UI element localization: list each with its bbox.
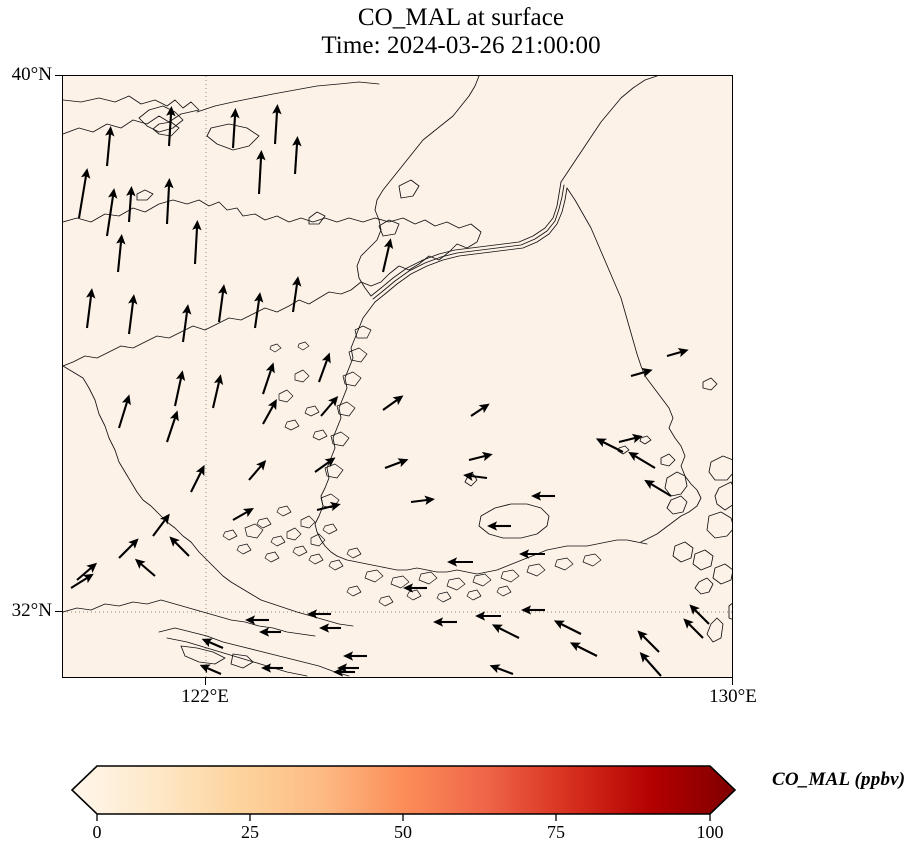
wind-arrow xyxy=(233,116,235,148)
island-south-14 xyxy=(347,586,361,596)
wind-arrow xyxy=(469,456,485,460)
island-south-5 xyxy=(473,574,491,586)
island-sw-14 xyxy=(347,548,361,558)
island-goto-3 xyxy=(713,564,733,584)
wind-arrow xyxy=(167,186,169,224)
coast-sk-west xyxy=(315,302,375,556)
wind-arrow xyxy=(263,406,273,424)
wind-arrow xyxy=(321,402,333,416)
island-south-2 xyxy=(391,576,409,588)
wind-arrow xyxy=(471,408,483,416)
wind-arrow xyxy=(209,642,223,648)
island-miaodao xyxy=(309,212,325,224)
wind-vectors xyxy=(71,112,709,676)
coast-east-china xyxy=(63,366,191,542)
wind-arrow xyxy=(129,194,131,222)
coast-north-shore xyxy=(197,82,379,112)
island-sw-7 xyxy=(277,506,291,516)
wind-arrow xyxy=(689,624,703,638)
island-sw-3 xyxy=(311,534,325,546)
island-amakusa xyxy=(707,618,723,642)
island-south-12 xyxy=(467,590,481,600)
wind-arrow xyxy=(175,542,189,556)
wind-arrow xyxy=(167,418,175,442)
wind-arrow xyxy=(191,472,201,492)
wind-arrow xyxy=(631,372,645,376)
wind-arrow xyxy=(319,360,327,382)
wind-arrow xyxy=(107,196,113,236)
wind-arrow xyxy=(141,564,155,576)
wind-arrow xyxy=(295,144,297,174)
colorbar-tick-50: 50 xyxy=(394,822,412,843)
coast-nk-west xyxy=(357,76,479,296)
colorbar-tick-0: 0 xyxy=(93,822,102,843)
wind-arrow xyxy=(77,568,91,580)
wind-arrow xyxy=(119,544,133,558)
island-ulleungdo xyxy=(703,378,717,390)
colorbar-tick-25: 25 xyxy=(241,822,259,843)
island-south-3 xyxy=(419,572,437,584)
island-sw-13 xyxy=(329,560,343,570)
island-yellow-sea-1 xyxy=(295,370,309,382)
island-yellow-sea-3 xyxy=(305,406,319,416)
island-south-7 xyxy=(527,564,545,576)
wind-arrow xyxy=(255,300,259,328)
island-south-9 xyxy=(583,554,601,566)
ytick-label-40n: 40°N xyxy=(12,64,52,86)
wind-arrow xyxy=(219,292,223,322)
coast-sk-south xyxy=(337,540,647,574)
colorbar-ticks xyxy=(97,814,710,821)
colorbar-tick-100: 100 xyxy=(697,822,724,843)
xtick-label-122e: 122°E xyxy=(181,686,229,708)
island-tsushima-north xyxy=(665,472,687,496)
colorbar-gradient-bar[interactable] xyxy=(72,766,735,814)
island-sw-10 xyxy=(265,552,279,562)
island-yellow-sea-6 xyxy=(270,344,281,352)
wind-arrow xyxy=(207,668,221,674)
island-small-se-2 xyxy=(640,436,651,444)
wind-arrow xyxy=(497,668,513,674)
coast-yangtze-south xyxy=(159,628,349,676)
xtick-130e xyxy=(732,678,733,685)
island-yellow-sea-7 xyxy=(298,342,309,350)
island-sw-5 xyxy=(293,546,307,556)
wind-arrow xyxy=(275,112,277,144)
island-iki xyxy=(709,456,733,480)
wind-arrow xyxy=(259,158,261,194)
wind-arrow xyxy=(79,176,86,218)
wind-arrow xyxy=(385,462,401,468)
island-south-6 xyxy=(501,570,519,582)
wind-arrow xyxy=(175,378,181,406)
island-small-nw xyxy=(137,190,153,200)
island-goto-1 xyxy=(673,542,693,562)
wind-arrow xyxy=(233,512,247,520)
wind-arrow xyxy=(195,228,197,264)
wind-arrow xyxy=(118,242,121,272)
wind-arrow xyxy=(263,370,271,394)
wind-arrow xyxy=(169,114,171,146)
wind-arrow xyxy=(183,312,187,342)
map-graphics xyxy=(63,76,733,678)
wind-arrow xyxy=(651,484,671,496)
coast-shandong-north xyxy=(63,200,459,228)
island-goto-2 xyxy=(693,550,713,570)
inlet-sk-3 xyxy=(343,372,361,386)
wind-arrow xyxy=(87,296,91,328)
inlet-sk-4 xyxy=(337,402,355,416)
xtick-122e xyxy=(205,678,206,685)
island-goto-4 xyxy=(695,578,713,594)
border-dmz-north xyxy=(371,182,561,296)
island-sw-11 xyxy=(237,544,251,554)
island-sw-6 xyxy=(257,518,271,528)
island-jeju xyxy=(479,504,549,538)
wind-arrow xyxy=(577,646,597,656)
wind-arrow xyxy=(667,352,681,356)
coast-sk-east xyxy=(567,188,701,542)
coast-jiangsu xyxy=(63,224,481,366)
title-line-variable: CO_MAL at surface xyxy=(0,4,922,32)
bay-nk-west-2 xyxy=(399,180,419,198)
border-dmz-south xyxy=(375,188,567,302)
island-yellow-sea-5 xyxy=(313,430,327,440)
border-dmz-center xyxy=(373,185,564,299)
wind-arrow xyxy=(619,438,635,442)
inlet-sk-5 xyxy=(331,432,349,446)
wind-arrow xyxy=(471,476,487,478)
island-south-13 xyxy=(497,586,511,596)
wind-arrow xyxy=(561,624,581,634)
colorbar-label: CO_MAL (ppbv) xyxy=(772,769,905,791)
island-south-11 xyxy=(437,592,451,602)
wind-arrow xyxy=(635,456,655,468)
island-chongming xyxy=(181,646,225,664)
colorbar-tick-75: 75 xyxy=(547,822,565,843)
coast-kyushu-w xyxy=(707,512,733,538)
wind-arrow xyxy=(119,402,127,428)
island-south-1 xyxy=(365,570,383,582)
map-plot-area[interactable] xyxy=(62,75,733,678)
island-oki-small xyxy=(661,454,675,466)
wind-arrow xyxy=(129,302,133,334)
ytick-label-32n: 32°N xyxy=(12,600,52,622)
coast-liaodong-lobe xyxy=(139,106,183,132)
coast-kyushu-nw xyxy=(715,482,733,510)
xtick-label-130e: 130°E xyxy=(709,686,757,708)
wind-arrow xyxy=(153,520,165,536)
island-south-10 xyxy=(407,590,421,600)
island-yellow-sea-2 xyxy=(279,390,293,402)
island-south-8 xyxy=(555,558,573,570)
island-sw-12 xyxy=(309,554,323,564)
gridlines xyxy=(63,76,733,678)
island-sw-15 xyxy=(223,530,237,540)
island-sw-2 xyxy=(287,528,301,540)
coast-bay-inlet xyxy=(153,122,179,136)
coast-nk-east xyxy=(561,76,657,182)
island-yellow-sea-4 xyxy=(285,420,299,430)
wind-arrow xyxy=(411,500,427,502)
map-axes: 40°N 32°N 122°E 130°E xyxy=(62,75,733,678)
wind-arrow xyxy=(383,246,389,272)
title-line-time: Time: 2024-03-26 21:00:00 xyxy=(0,32,922,60)
ytick-32n xyxy=(55,611,62,612)
island-sw-4 xyxy=(271,536,285,546)
wind-arrow xyxy=(213,382,219,408)
island-sw-8 xyxy=(323,524,337,534)
wind-arrow xyxy=(499,628,519,638)
island-south-4 xyxy=(447,578,465,590)
wind-arrow xyxy=(249,466,261,480)
island-sw-1 xyxy=(301,516,315,528)
wind-arrow xyxy=(107,134,110,166)
ytick-40n xyxy=(55,75,62,76)
wind-arrow xyxy=(645,658,661,676)
wind-arrow xyxy=(293,284,297,312)
wind-arrow xyxy=(603,442,623,452)
wind-arrow xyxy=(695,610,709,624)
wind-arrow xyxy=(643,636,659,652)
figure-title: CO_MAL at surface Time: 2024-03-26 21:00… xyxy=(0,4,922,61)
wind-arrow xyxy=(383,400,397,410)
island-south-15 xyxy=(379,596,393,606)
coast-kyushu-sw xyxy=(729,602,733,620)
island-tsushima-south xyxy=(667,496,687,514)
